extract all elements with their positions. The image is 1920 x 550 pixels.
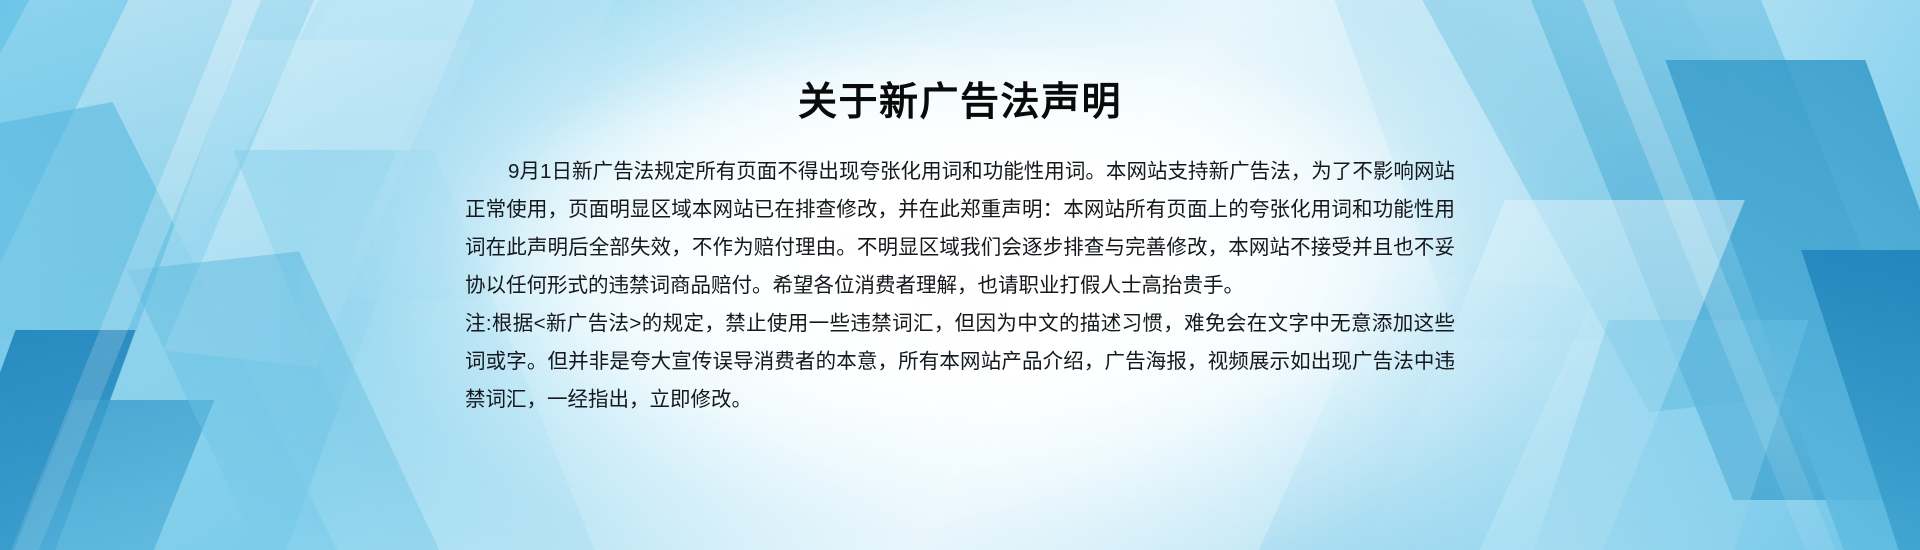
page-title: 关于新广告法声明	[798, 82, 1122, 125]
statement-paragraph-2: 注:根据<新广告法>的规定，禁止使用一些违禁词汇，但因为中文的描述习惯，难免会在…	[465, 305, 1455, 419]
statement-body: 9月1日新广告法规定所有页面不得出现夸张化用词和功能性用词。本网站支持新广告法，…	[465, 153, 1455, 419]
advertising-law-statement-banner: 关于新广告法声明 9月1日新广告法规定所有页面不得出现夸张化用词和功能性用词。本…	[0, 0, 1920, 550]
statement-content: 关于新广告法声明 9月1日新广告法规定所有页面不得出现夸张化用词和功能性用词。本…	[0, 0, 1920, 550]
statement-paragraph-1: 9月1日新广告法规定所有页面不得出现夸张化用词和功能性用词。本网站支持新广告法，…	[465, 153, 1455, 305]
